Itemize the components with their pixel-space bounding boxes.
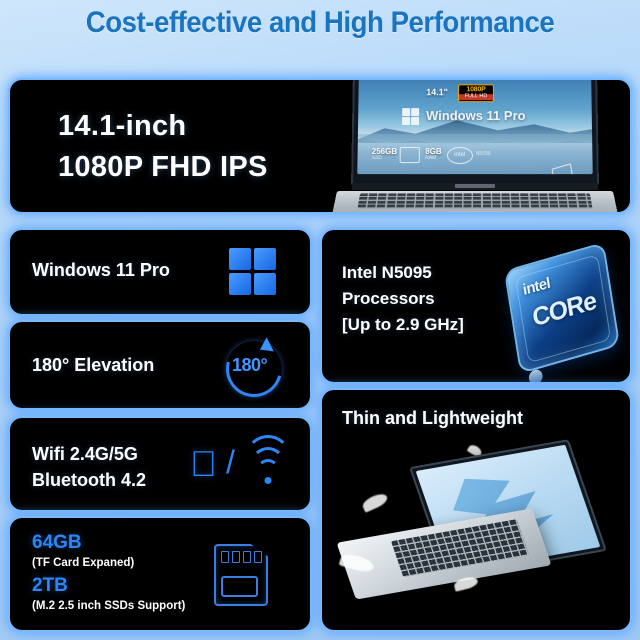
laptop-touchpad (445, 211, 504, 212)
feature-card-storage: 64GB (TF Card Expaned) 2TB (M.2 2.5 inch… (10, 518, 310, 630)
storage-note-2: (M.2 2.5 inch SSDs Support) (32, 598, 185, 615)
page-title: Cost-effective and High Performance (26, 6, 615, 40)
laptop-brand-mark (455, 184, 495, 188)
storage-capacity-1: 64GB (32, 532, 185, 555)
hd-badge-top: 1080P (459, 86, 493, 93)
hero-line-1: 14.1-inch (58, 106, 268, 147)
thin-label: Thin and Lightweight (342, 408, 523, 429)
spec-cpu: intel N5095 (447, 146, 491, 163)
rotate-180-icon: 180° (222, 336, 284, 394)
floating-laptop-image (346, 452, 608, 614)
screen-spec-row: 256GB SSD 8GB RAM (371, 140, 588, 170)
icon-separator: / (226, 446, 235, 478)
windows-logo-icon (402, 108, 419, 125)
bluetooth-label: Bluetooth 4.2 (32, 468, 146, 494)
laptop-base (331, 191, 619, 212)
spec-memory-unit: RAM (425, 156, 442, 162)
elevation-label: 180° Elevation (32, 355, 154, 376)
storage-capacity-2: 2TB (32, 575, 185, 598)
processor-line-1: Intel N5095 (342, 260, 464, 286)
ssd-icon (400, 147, 420, 163)
screen-size-label: 14.1" (426, 87, 448, 97)
full-hd-badge: 1080P FULL HD (458, 84, 494, 101)
storage-text-block: 64GB (TF Card Expaned) 2TB (M.2 2.5 inch… (32, 532, 185, 618)
storage-note-1: (TF Card Expaned) (32, 555, 185, 572)
infographic-page: Cost-effective and High Performance 14.1… (0, 0, 640, 640)
hero-laptop-image: 14.1" 1080P FULL HD Windows 11 Pro 256G (334, 80, 616, 212)
rotate-180-icon-text: 180° (232, 355, 284, 376)
feature-card-processor: Intel N5095 Processors [Up to 2.9 GHz] i… (322, 230, 630, 382)
intel-icon: intel (447, 146, 473, 163)
laptop-keyboard (357, 193, 592, 208)
processor-line-2: Processors (342, 286, 464, 312)
wifi-label: Wifi 2.4G/5G (32, 442, 146, 468)
thin-laptop-keyboard (391, 519, 529, 577)
spec-cpu-value: N5095 (476, 152, 491, 158)
wifi-icon (246, 452, 290, 484)
wireless-text-block: Wifi 2.4G/5G Bluetooth 4.2 (32, 442, 146, 493)
wireless-icon-group:  / (190, 444, 290, 488)
feature-card-thin-lightweight: Thin and Lightweight (322, 390, 630, 630)
spec-memory: 8GB RAM (425, 148, 442, 162)
feature-card-wireless: Wifi 2.4G/5G Bluetooth 4.2  / (10, 418, 310, 510)
windows-label: Windows 11 Pro (32, 260, 170, 281)
hero-text-block: 14.1-inch 1080P FHD IPS (58, 106, 268, 188)
chip-brand-label: intel (522, 274, 551, 299)
feather-icon (361, 491, 390, 513)
laptop-lid: 14.1" 1080P FULL HD Windows 11 Pro 256G (351, 80, 599, 185)
chip-family-label: CORe (524, 284, 605, 335)
windows-logo-icon (229, 248, 276, 295)
bluetooth-icon:  (190, 446, 220, 482)
spec-storage: 256GB SSD (372, 147, 421, 163)
ram-icon (552, 163, 574, 174)
feature-card-elevation: 180° Elevation 180° (10, 322, 310, 408)
processor-text-block: Intel N5095 Processors [Up to 2.9 GHz] (342, 260, 464, 337)
laptop-screen: 14.1" 1080P FULL HD Windows 11 Pro 256G (357, 80, 592, 174)
intel-core-chip-icon: intel CORe (504, 242, 620, 374)
hero-display-card: 14.1-inch 1080P FHD IPS 14.1" 1080P FULL… (10, 80, 630, 212)
processor-line-3: [Up to 2.9 GHz] (342, 312, 464, 338)
hd-badge-bottom: FULL HD (459, 94, 493, 99)
sd-card-icon (214, 544, 268, 606)
hero-line-2: 1080P FHD IPS (58, 147, 268, 188)
feature-card-windows: Windows 11 Pro (10, 230, 310, 314)
screen-os-label: Windows 11 Pro (426, 108, 526, 123)
spec-storage-unit: SSD (372, 156, 398, 162)
